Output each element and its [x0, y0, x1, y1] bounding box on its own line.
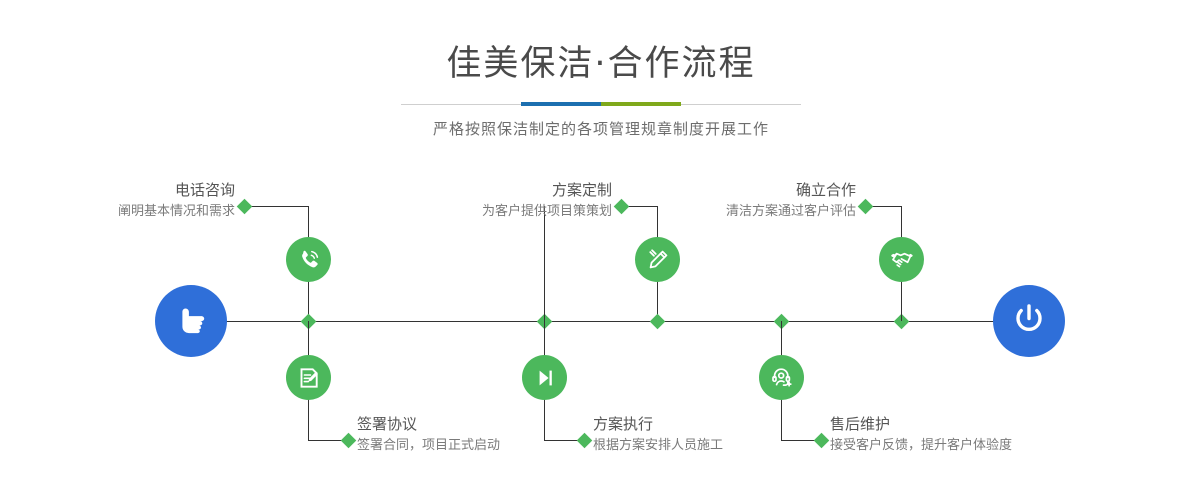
headset-support-icon — [769, 365, 795, 391]
step-desc: 签署合同，项目正式启动 — [357, 436, 587, 456]
step-label-2: 签署协议 签署合同，项目正式启动 — [357, 414, 587, 456]
play-execute-icon — [532, 365, 558, 391]
step-desc: 阐明基本情况和需求 — [30, 202, 235, 222]
step-node-5[interactable] — [879, 237, 924, 282]
step-title: 方案执行 — [593, 414, 828, 434]
pointing-hand-icon — [171, 299, 211, 343]
step-title: 方案定制 — [400, 180, 612, 200]
connector-vertical — [544, 206, 545, 321]
step-label-3: 方案定制 为客户提供项目策策划 — [400, 180, 612, 222]
page-subtitle: 严格按照保洁制定的各项管理规章制度开展工作 — [0, 118, 1202, 139]
step-desc: 根据方案安排人员施工 — [593, 436, 828, 456]
step-label-5: 确立合作 清洁方案通过客户评估 — [640, 180, 856, 222]
flow-end-node[interactable] — [993, 285, 1065, 357]
step-title: 电话咨询 — [30, 180, 235, 200]
step-title: 售后维护 — [830, 414, 1120, 434]
page-title: 佳美保洁·合作流程 — [0, 42, 1202, 86]
power-icon — [1008, 298, 1050, 344]
step-title: 确立合作 — [640, 180, 856, 200]
step-node-4[interactable] — [522, 355, 567, 400]
step-label-4: 方案执行 根据方案安排人员施工 — [593, 414, 828, 456]
title-divider — [401, 102, 801, 106]
step-node-2[interactable] — [286, 355, 331, 400]
timeline-marker — [650, 314, 666, 330]
connector-horizontal — [243, 206, 309, 207]
flow-start-node[interactable] — [155, 285, 227, 357]
label-marker — [237, 199, 253, 215]
pencil-ruler-icon — [645, 247, 671, 273]
timeline-axis — [215, 321, 995, 322]
step-title: 签署协议 — [357, 414, 587, 434]
step-desc: 为客户提供项目策策划 — [400, 202, 612, 222]
step-label-6: 售后维护 接受客户反馈，提升客户体验度 — [830, 414, 1120, 456]
infographic-canvas: 佳美保洁·合作流程 严格按照保洁制定的各项管理规章制度开展工作 — [0, 0, 1202, 502]
divider-segment-blue — [521, 102, 601, 106]
step-node-3[interactable] — [635, 237, 680, 282]
process-flow: 电话咨询 阐明基本情况和需求 签署协议 签署合同，项目正式启动 — [0, 150, 1202, 502]
divider-segment-green — [601, 102, 681, 106]
label-marker — [341, 433, 357, 449]
document-pen-icon — [296, 365, 322, 391]
step-node-1[interactable] — [286, 237, 331, 282]
handshake-icon — [889, 247, 915, 273]
label-marker — [858, 199, 874, 215]
step-node-6[interactable] — [759, 355, 804, 400]
label-marker — [614, 199, 630, 215]
step-desc: 清洁方案通过客户评估 — [640, 202, 856, 222]
step-desc: 接受客户反馈，提升客户体验度 — [830, 436, 1120, 456]
phone-call-icon — [296, 247, 322, 273]
step-label-1: 电话咨询 阐明基本情况和需求 — [30, 180, 235, 222]
header: 佳美保洁·合作流程 严格按照保洁制定的各项管理规章制度开展工作 — [0, 0, 1202, 139]
